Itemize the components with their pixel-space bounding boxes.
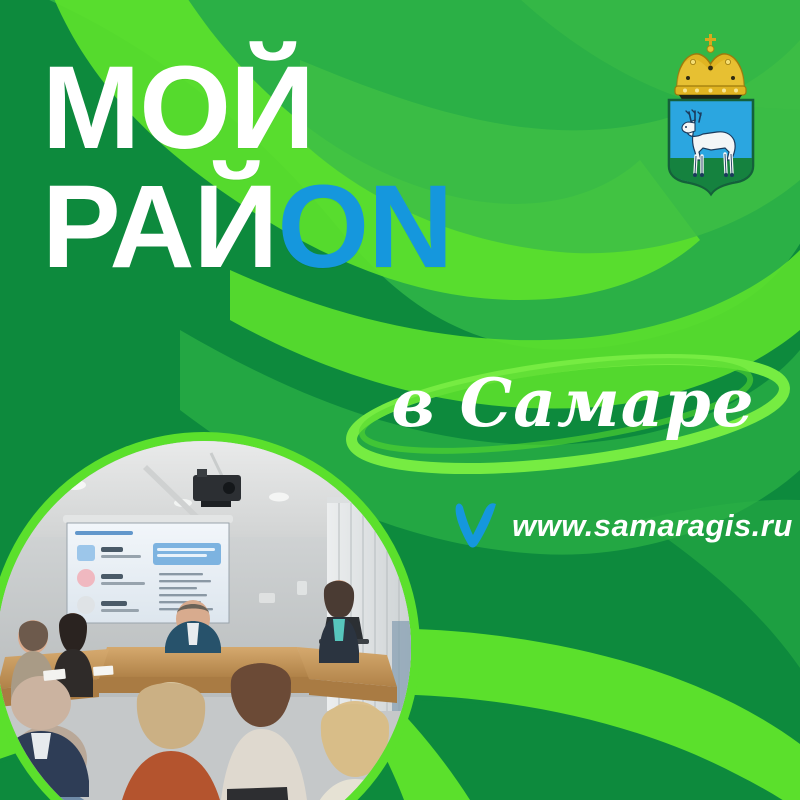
coat-of-arms-of-samara-icon: [655, 28, 767, 198]
website-url-text[interactable]: www.samaragis.ru: [512, 508, 793, 544]
screen-case: [63, 515, 233, 523]
ceiling-light: [64, 480, 86, 490]
script-caption-block: в Самаре: [355, 360, 775, 470]
headline-line-moy: МОЙ: [42, 58, 602, 159]
headline-rayon-accent: ON: [277, 161, 452, 293]
crown-icon: [675, 34, 746, 101]
script-caption-text: в Самаре: [383, 364, 763, 442]
website-row[interactable]: www.samaragis.ru: [452, 500, 793, 552]
meeting-photo-circle: [0, 432, 420, 800]
meeting-photo: [0, 441, 411, 800]
headline-line-rayon: РАЙON: [42, 177, 602, 278]
poster-canvas: МОЙ РАЙON в Самаре www.samaragis.ru: [0, 0, 800, 800]
headline-rayon-white: РАЙ: [42, 161, 277, 293]
shield-icon: [669, 100, 753, 194]
poster-headline: МОЙ РАЙON: [42, 58, 602, 279]
check-mark-icon: [452, 500, 498, 552]
